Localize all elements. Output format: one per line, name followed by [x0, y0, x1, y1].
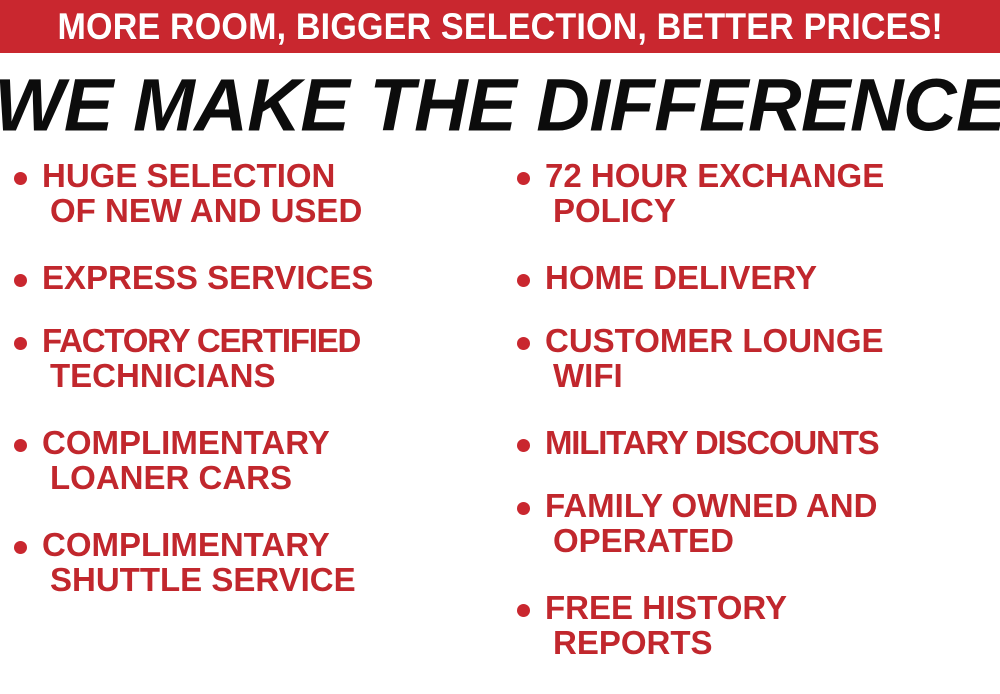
benefit-line: MILITARY DISCOUNTS [545, 425, 1000, 460]
benefit-item: MILITARY DISCOUNTS [517, 425, 1000, 460]
benefits-columns: HUGE SELECTIONOF NEW AND USEDEXPRESS SER… [0, 158, 1000, 694]
bullet-dot-icon [14, 439, 27, 452]
benefit-item-text: EXPRESS SERVICES [42, 260, 500, 295]
bullet-dot-icon [517, 439, 530, 452]
spacer [14, 295, 500, 323]
benefit-item-text: FREE HISTORYREPORTS [545, 590, 1000, 660]
spacer [517, 228, 1000, 260]
benefit-item-text: MILITARY DISCOUNTS [545, 425, 1000, 460]
bullet-dot-icon [14, 274, 27, 287]
benefit-line: WIFI [545, 358, 1000, 393]
benefit-item: COMPLIMENTARYLOANER CARS [14, 425, 500, 495]
benefit-item-text: COMPLIMENTARYLOANER CARS [42, 425, 500, 495]
spacer [517, 460, 1000, 488]
advertisement-root: MORE ROOM, BIGGER SELECTION, BETTER PRIC… [0, 0, 1000, 694]
benefit-item: 72 HOUR EXCHANGEPOLICY [517, 158, 1000, 228]
benefit-line: LOANER CARS [42, 460, 500, 495]
bullet-dot-icon [14, 337, 27, 350]
spacer [517, 558, 1000, 590]
bullet-dot-icon [517, 172, 530, 185]
benefit-item-text: CUSTOMER LOUNGEWIFI [545, 323, 1000, 393]
benefit-item: FREE HISTORYREPORTS [517, 590, 1000, 660]
benefit-line: HUGE SELECTION [42, 158, 500, 193]
benefit-item: HUGE SELECTIONOF NEW AND USED [14, 158, 500, 228]
benefit-item: EXPRESS SERVICES [14, 260, 500, 295]
benefit-line: OPERATED [545, 523, 1000, 558]
benefit-line: TECHNICIANS [42, 358, 500, 393]
benefit-line: COMPLIMENTARY [42, 425, 500, 460]
spacer [517, 295, 1000, 323]
benefit-line: OF NEW AND USED [42, 193, 500, 228]
spacer [14, 228, 500, 260]
benefit-item: CUSTOMER LOUNGEWIFI [517, 323, 1000, 393]
benefit-item-text: COMPLIMENTARYSHUTTLE SERVICE [42, 527, 500, 597]
promo-banner: MORE ROOM, BIGGER SELECTION, BETTER PRIC… [0, 0, 1000, 53]
headline-container: WE MAKE THE DIFFERENCE [0, 62, 1000, 148]
benefit-line: FAMILY OWNED AND [545, 488, 1000, 523]
bullet-dot-icon [14, 541, 27, 554]
benefit-item-text: HUGE SELECTIONOF NEW AND USED [42, 158, 500, 228]
benefit-line: REPORTS [545, 625, 1000, 660]
benefit-item: FAMILY OWNED ANDOPERATED [517, 488, 1000, 558]
spacer [14, 393, 500, 425]
spacer [517, 393, 1000, 425]
benefit-line: EXPRESS SERVICES [42, 260, 500, 295]
benefit-item: FACTORY CERTIFIEDTECHNICIANS [14, 323, 500, 393]
benefit-line: FREE HISTORY [545, 590, 1000, 625]
benefit-line: SHUTTLE SERVICE [42, 562, 500, 597]
benefit-item-text: FAMILY OWNED ANDOPERATED [545, 488, 1000, 558]
bullet-dot-icon [517, 337, 530, 350]
benefit-line: CUSTOMER LOUNGE [545, 323, 1000, 358]
benefit-item-text: FACTORY CERTIFIEDTECHNICIANS [42, 323, 500, 393]
benefit-line: COMPLIMENTARY [42, 527, 500, 562]
benefits-column-left: HUGE SELECTIONOF NEW AND USEDEXPRESS SER… [14, 158, 500, 694]
bullet-dot-icon [517, 604, 530, 617]
benefit-line: HOME DELIVERY [545, 260, 1000, 295]
benefit-line: 72 HOUR EXCHANGE [545, 158, 1000, 193]
benefit-line: FACTORY CERTIFIED [42, 323, 500, 358]
benefit-item-text: HOME DELIVERY [545, 260, 1000, 295]
bullet-dot-icon [517, 502, 530, 515]
bullet-dot-icon [14, 172, 27, 185]
benefit-line: POLICY [545, 193, 1000, 228]
spacer [14, 495, 500, 527]
benefit-item: COMPLIMENTARYSHUTTLE SERVICE [14, 527, 500, 597]
page-title: WE MAKE THE DIFFERENCE [0, 67, 1000, 143]
bullet-dot-icon [517, 274, 530, 287]
benefits-column-right: 72 HOUR EXCHANGEPOLICYHOME DELIVERYCUSTO… [517, 158, 1000, 694]
promo-banner-text: MORE ROOM, BIGGER SELECTION, BETTER PRIC… [57, 8, 942, 45]
benefit-item: HOME DELIVERY [517, 260, 1000, 295]
benefit-item-text: 72 HOUR EXCHANGEPOLICY [545, 158, 1000, 228]
